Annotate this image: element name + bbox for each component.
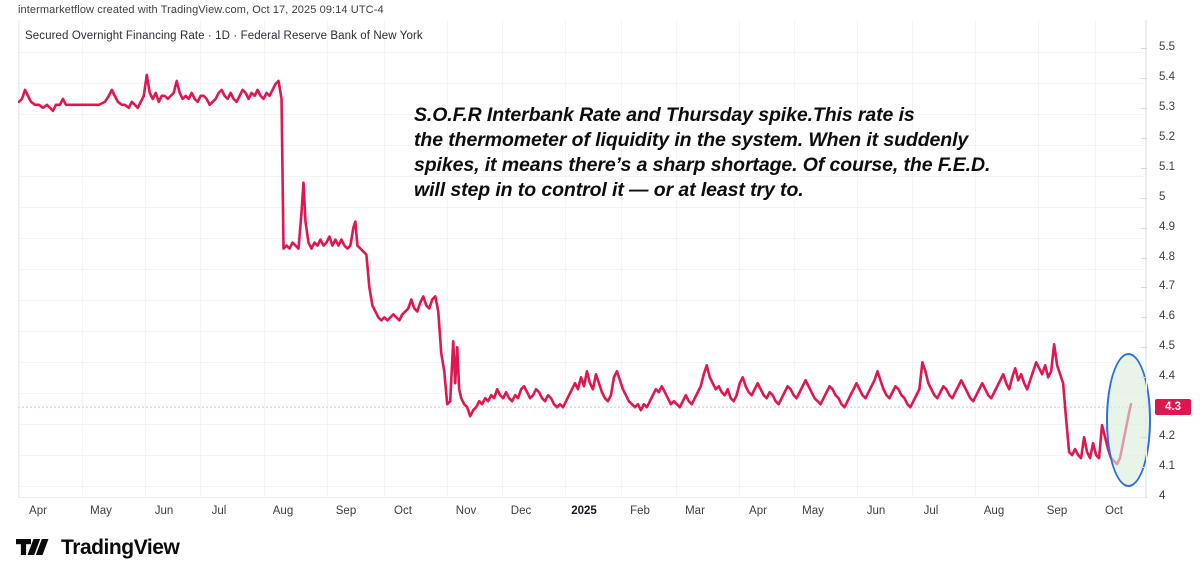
price-series-svg [18,20,1146,497]
price-tick-label: 4.9 [1159,221,1175,233]
time-tick-jun-2: Jun [155,505,174,517]
price-tick-dash [1141,317,1147,318]
chart-page: intermarketflow created with TradingView… [0,0,1200,573]
time-tick-jul-3: Jul [212,505,227,517]
price-tick-label: 4.8 [1159,251,1175,263]
time-tick-sep-5: Sep [336,505,356,517]
tradingview-footer: TradingView [16,536,179,558]
price-tick-dash [1141,377,1147,378]
price-tick-dash [1141,138,1147,139]
tradingview-wordmark: TradingView [61,537,179,558]
price-axis[interactable]: 4.3 5.55.45.35.25.154.94.84.74.64.54.44.… [1146,20,1200,497]
time-tick-aug-16: Aug [984,505,1004,517]
price-tick-label: 4.2 [1159,430,1175,442]
price-tick-dash [1141,467,1147,468]
time-tick-sep-17: Sep [1047,505,1067,517]
time-tick-dec-8: Dec [511,505,531,517]
time-axis[interactable]: AprMayJunJulAugSepOctNovDec2025FebMarApr… [18,497,1146,525]
price-tick-dash [1141,168,1147,169]
time-tick-nov-7: Nov [456,505,476,517]
price-tick-label: 4.6 [1159,310,1175,322]
time-tick-aug-4: Aug [273,505,293,517]
price-tick-label: 4.5 [1159,340,1175,352]
tradingview-logo-icon [16,536,52,558]
price-tick-dash [1141,287,1147,288]
time-tick-2025-9: 2025 [571,505,597,517]
price-tick-label: 5.5 [1159,41,1175,53]
price-tick-dash [1141,198,1147,199]
price-tick-dash [1141,48,1147,49]
last-price-badge: 4.3 [1155,399,1191,415]
price-tick-label: 4.1 [1159,460,1175,472]
time-tick-apr-0: Apr [29,505,47,517]
price-tick-label: 5 [1159,191,1165,203]
price-tick-label: 4.7 [1159,280,1175,292]
time-tick-apr-12: Apr [749,505,767,517]
time-tick-may-13: May [802,505,824,517]
price-tick-dash [1141,78,1147,79]
price-tick-dash [1141,108,1147,109]
price-tick-label: 4.4 [1159,370,1175,382]
plot-area [18,20,1146,497]
price-tick-label: 4 [1159,490,1165,502]
price-tick-dash [1141,347,1147,348]
time-tick-feb-10: Feb [630,505,650,517]
price-tick-label: 5.1 [1159,161,1175,173]
price-tick-dash [1141,437,1147,438]
time-tick-oct-18: Oct [1105,505,1123,517]
annotation-line-2: the thermometer of liquidity in the syst… [414,128,1104,153]
price-tick-dash [1141,258,1147,259]
time-tick-oct-6: Oct [394,505,412,517]
annotation-line-3: spikes, it means there’s a sharp shortag… [414,153,1104,178]
time-tick-may-1: May [90,505,112,517]
time-tick-mar-11: Mar [685,505,705,517]
chart-annotation-text[interactable]: S.O.F.R Interbank Rate and Thursday spik… [414,103,1104,203]
time-tick-jul-15: Jul [924,505,939,517]
time-tick-jun-14: Jun [867,505,886,517]
attribution-text: intermarketflow created with TradingView… [18,4,384,16]
annotation-line-1: S.O.F.R Interbank Rate and Thursday spik… [414,103,1104,128]
price-tick-label: 5.3 [1159,101,1175,113]
price-tick-label: 5.2 [1159,131,1175,143]
price-tick-dash [1141,228,1147,229]
price-tick-label: 5.4 [1159,71,1175,83]
annotation-line-4: will step in to control it — or at least… [414,178,1104,203]
symbol-legend: Secured Overnight Financing Rate · 1D · … [25,30,423,42]
